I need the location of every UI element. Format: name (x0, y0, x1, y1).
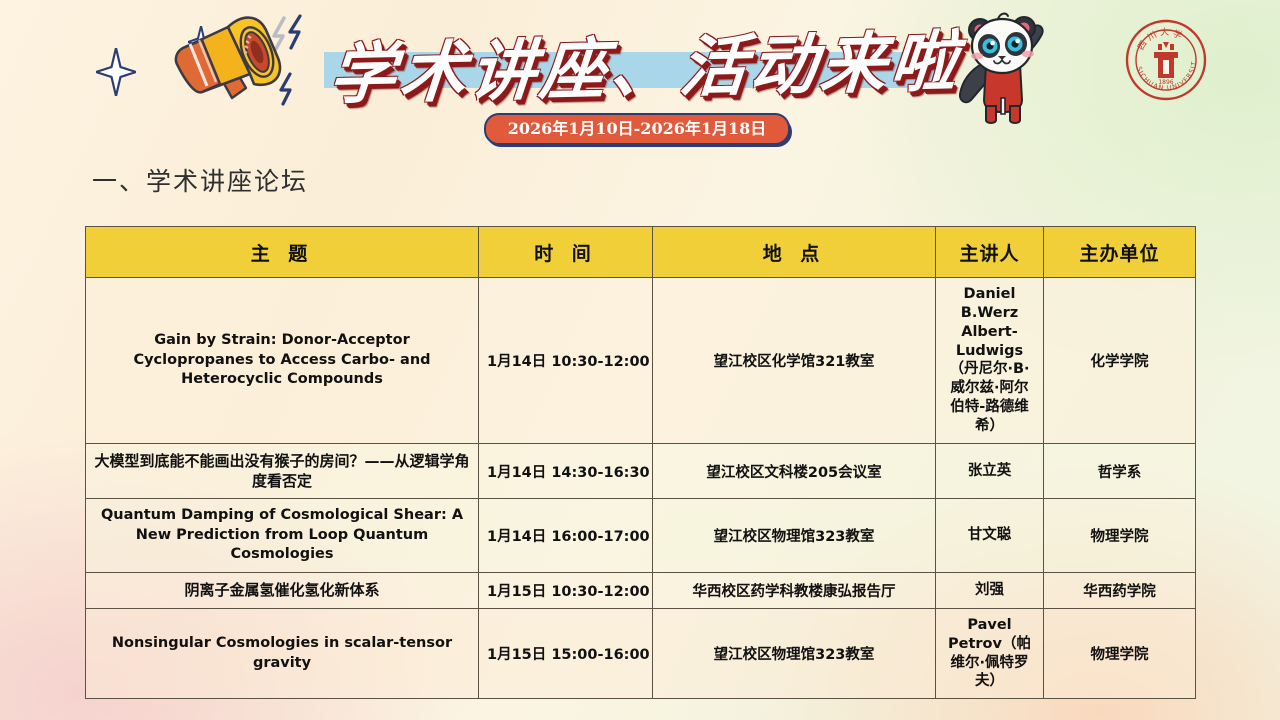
schedule-table-wrapper: 主 题 时 间 地 点 主讲人 主办单位 Gain by Strain: Don… (85, 226, 1195, 699)
cell-topic: Gain by Strain: Donor-Acceptor Cycloprop… (86, 278, 479, 444)
cell-host: 化学学院 (1044, 278, 1196, 444)
cell-time: 1月14日 10:30-12:00 (479, 278, 653, 444)
title-banner-band (324, 52, 944, 88)
cell-place: 望江校区化学馆321教室 (653, 278, 936, 444)
table-header-row: 主 题 时 间 地 点 主讲人 主办单位 (86, 227, 1196, 278)
cell-place: 望江校区物理馆323教室 (653, 608, 936, 698)
cell-place: 望江校区物理馆323教室 (653, 499, 936, 573)
date-range-badge: 2026年1月10日-2026年1月18日 (484, 113, 794, 147)
date-range-text: 2026年1月10日-2026年1月18日 (484, 113, 790, 145)
cell-host: 哲学系 (1044, 443, 1196, 499)
table-row: Nonsingular Cosmologies in scalar-tensor… (86, 608, 1196, 698)
cell-topic: 阴离子金属氢催化氢化新体系 (86, 572, 479, 608)
column-header-time: 时 间 (479, 227, 653, 278)
cell-host: 华西药学院 (1044, 572, 1196, 608)
cell-time: 1月14日 16:00-17:00 (479, 499, 653, 573)
column-header-topic: 主 题 (86, 227, 479, 278)
cell-place: 华西校区药学科教楼康弘报告厅 (653, 572, 936, 608)
column-header-host: 主办单位 (1044, 227, 1196, 278)
cell-speaker: 张立英 (936, 443, 1044, 499)
column-header-place: 地 点 (653, 227, 936, 278)
cell-topic: 大模型到底能不能画出没有猴子的房间？——从逻辑学角度看否定 (86, 443, 479, 499)
megaphone-icon (150, 8, 320, 123)
cell-time: 1月15日 15:00-16:00 (479, 608, 653, 698)
cell-speaker: Pavel Petrov（帕维尔·佩特罗夫） (936, 608, 1044, 698)
cell-host: 物理学院 (1044, 608, 1196, 698)
section-heading: 一、学术讲座论坛 (92, 162, 308, 198)
table-row: 大模型到底能不能画出没有猴子的房间？——从逻辑学角度看否定 1月14日 14:3… (86, 443, 1196, 499)
table-row: Gain by Strain: Donor-Acceptor Cycloprop… (86, 278, 1196, 444)
cell-speaker: Daniel B.Werz Albert-Ludwigs（丹尼尔·B·威尔兹·阿… (936, 278, 1044, 444)
cell-speaker: 甘文聪 (936, 499, 1044, 573)
cell-topic: Quantum Damping of Cosmological Shear: A… (86, 499, 479, 573)
cell-topic: Nonsingular Cosmologies in scalar-tensor… (86, 608, 479, 698)
panda-mascot-icon (948, 2, 1056, 128)
cell-time: 1月14日 14:30-16:30 (479, 443, 653, 499)
cell-place: 望江校区文科楼205会议室 (653, 443, 936, 499)
cell-time: 1月15日 10:30-12:00 (479, 572, 653, 608)
table-row: 阴离子金属氢催化氢化新体系 1月15日 10:30-12:00 华西校区药学科教… (86, 572, 1196, 608)
column-header-speaker: 主讲人 (936, 227, 1044, 278)
schedule-table: 主 题 时 间 地 点 主讲人 主办单位 Gain by Strain: Don… (85, 226, 1196, 699)
cell-speaker: 刘强 (936, 572, 1044, 608)
sichuan-university-logo: 1896 四 川 大 学 SICHUAN UNIVERSITY (1124, 18, 1208, 102)
sparkle-star-icon (96, 48, 136, 96)
cell-host: 物理学院 (1044, 499, 1196, 573)
table-row: Quantum Damping of Cosmological Shear: A… (86, 499, 1196, 573)
